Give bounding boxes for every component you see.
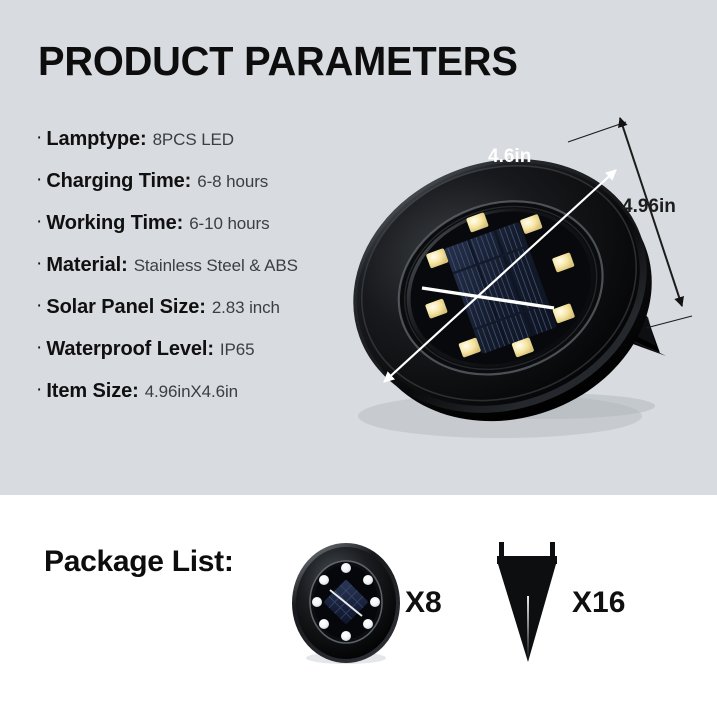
spec-value: 6-10 hours <box>189 214 269 234</box>
spec-row-lamptype: · Lamptype: 8PCS LED <box>36 128 366 170</box>
spec-value: 4.96inX4.6in <box>145 382 238 402</box>
bullet-icon: · <box>36 296 42 315</box>
spec-value: IP65 <box>220 340 255 360</box>
spec-row-charging-time: · Charging Time: 6-8 hours <box>36 170 366 212</box>
bullet-icon: · <box>36 338 42 357</box>
spec-value: Stainless Steel & ABS <box>134 256 298 276</box>
bullet-icon: · <box>36 254 42 273</box>
bullet-icon: · <box>36 212 42 231</box>
spec-label: Waterproof Level: <box>46 338 214 361</box>
spec-row-working-time: · Working Time: 6-10 hours <box>36 212 366 254</box>
page-title: PRODUCT PARAMETERS <box>38 38 518 85</box>
spec-label: Charging Time: <box>46 170 191 193</box>
spec-row-waterproof-level: · Waterproof Level: IP65 <box>36 338 366 380</box>
spec-value: 8PCS LED <box>153 130 234 150</box>
spec-row-item-size: · Item Size: 4.96inX4.6in <box>36 380 366 422</box>
bullet-icon: · <box>36 170 42 189</box>
specification-list: · Lamptype: 8PCS LED · Charging Time: 6-… <box>36 128 366 422</box>
package-quantity-ground-stake: X16 <box>572 586 625 620</box>
product-photo: 4.6in 4.96in <box>330 100 717 460</box>
package-quantity-disk-light: X8 <box>405 586 442 620</box>
specifications-panel: PRODUCT PARAMETERS · Lamptype: 8PCS LED … <box>0 0 717 495</box>
spec-label: Working Time: <box>46 212 183 235</box>
spec-label: Item Size: <box>46 380 138 403</box>
bullet-icon: · <box>36 380 42 399</box>
spec-label: Lamptype: <box>46 128 146 151</box>
spec-row-solar-panel-size: · Solar Panel Size: 2.83 inch <box>36 296 366 338</box>
diameter-dimension-label: 4.6in <box>488 146 531 167</box>
spec-label: Solar Panel Size: <box>46 296 205 319</box>
bullet-icon: · <box>36 128 42 147</box>
spec-label: Material: <box>46 254 127 277</box>
package-list-title: Package List: <box>44 545 234 579</box>
product-parameters-infographic: PRODUCT PARAMETERS · Lamptype: 8PCS LED … <box>0 0 717 717</box>
spec-value: 6-8 hours <box>197 172 268 192</box>
spec-value: 2.83 inch <box>212 298 280 318</box>
height-dimension-label: 4.96in <box>622 196 676 217</box>
spec-row-material: · Material: Stainless Steel & ABS <box>36 254 366 296</box>
package-item-disk-light <box>288 540 404 671</box>
package-item-ground-stake <box>489 540 565 671</box>
